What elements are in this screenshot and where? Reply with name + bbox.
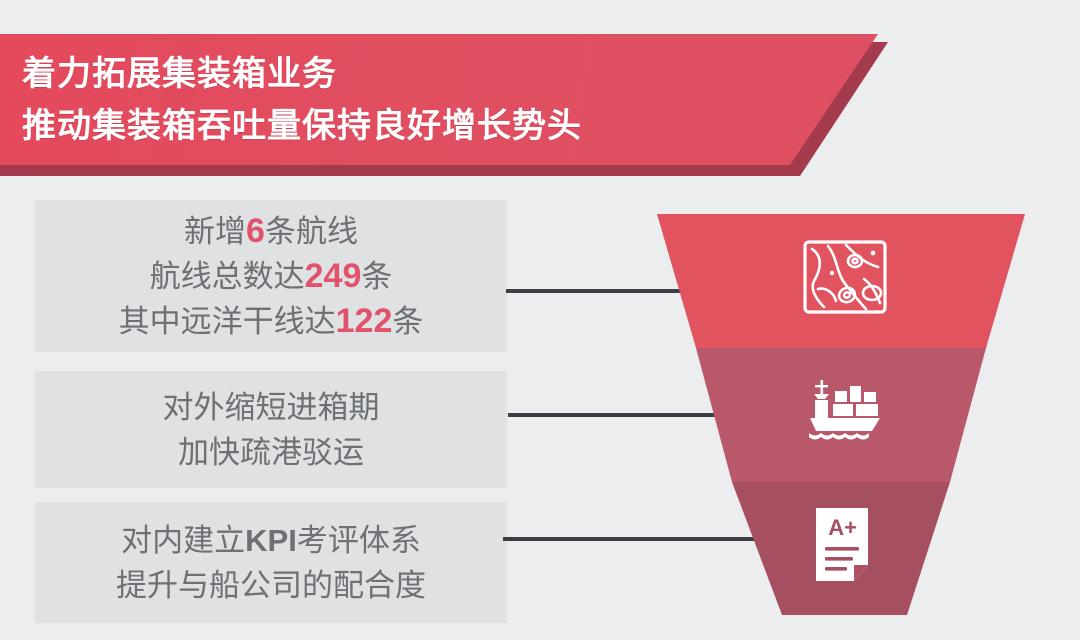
report-card-icon: A+ xyxy=(810,505,880,589)
panel-text-segment: 提升与船公司的配合度 xyxy=(116,568,426,603)
panel-text-segment: 条 xyxy=(361,259,392,294)
banner-title-line-1: 着力拓展集装箱业务 xyxy=(22,48,782,100)
panel-text-segment: 其中远洋干线达 xyxy=(119,304,336,339)
info-panel-internal[interactable]: 对内建立KPI考评体系提升与船公司的配合度 xyxy=(35,502,507,623)
panel-text-segment: 航线总数达 xyxy=(150,259,305,294)
panel-text-line: 其中远洋干线达122条 xyxy=(119,299,424,344)
info-panel-routes[interactable]: 新增6条航线航线总数达249条其中远洋干线达122条 xyxy=(35,200,507,352)
banner-title-block: 着力拓展集装箱业务 推动集装箱吞吐量保持良好增长势头 xyxy=(22,48,782,152)
highlight-number: 249 xyxy=(305,257,362,295)
panel-text-segment: 加快疏港驳运 xyxy=(178,435,364,470)
header-banner: 着力拓展集装箱业务 推动集装箱吞吐量保持良好增长势头 xyxy=(0,34,900,168)
panel-text-line: 航线总数达249条 xyxy=(150,254,393,299)
container-ship-icon xyxy=(806,378,884,444)
panel-text-segment: 条航线 xyxy=(265,214,358,249)
info-panel-external[interactable]: 对外缩短进箱期加快疏港驳运 xyxy=(35,371,507,488)
panel-text-segment: 对外缩短进箱期 xyxy=(163,390,380,425)
panel-text-line: 对外缩短进箱期 xyxy=(163,385,380,430)
infographic-canvas: 着力拓展集装箱业务 推动集装箱吞吐量保持良好增长势头 新增6条航线航线总数达24… xyxy=(0,0,1080,640)
panel-text-line: 提升与船公司的配合度 xyxy=(116,563,426,608)
panel-text-segment: 条 xyxy=(392,304,423,339)
panel-text-segment: 对内建立 xyxy=(121,523,245,558)
panel-text-line: 新增6条航线 xyxy=(184,209,358,254)
highlight-number: 6 xyxy=(246,212,265,250)
highlight-number: 122 xyxy=(336,302,393,340)
map-icon xyxy=(802,237,888,317)
kpi-label: KPI xyxy=(245,523,297,558)
panel-text-segment: 考评体系 xyxy=(297,523,421,558)
banner-title-line-2: 推动集装箱吞吐量保持良好增长势头 xyxy=(22,100,782,152)
report-grade-label: A+ xyxy=(828,515,857,540)
panel-text-line: 对内建立KPI考评体系 xyxy=(121,518,421,563)
panel-text-line: 加快疏港驳运 xyxy=(178,430,364,475)
panel-text-segment: 新增 xyxy=(184,214,246,249)
